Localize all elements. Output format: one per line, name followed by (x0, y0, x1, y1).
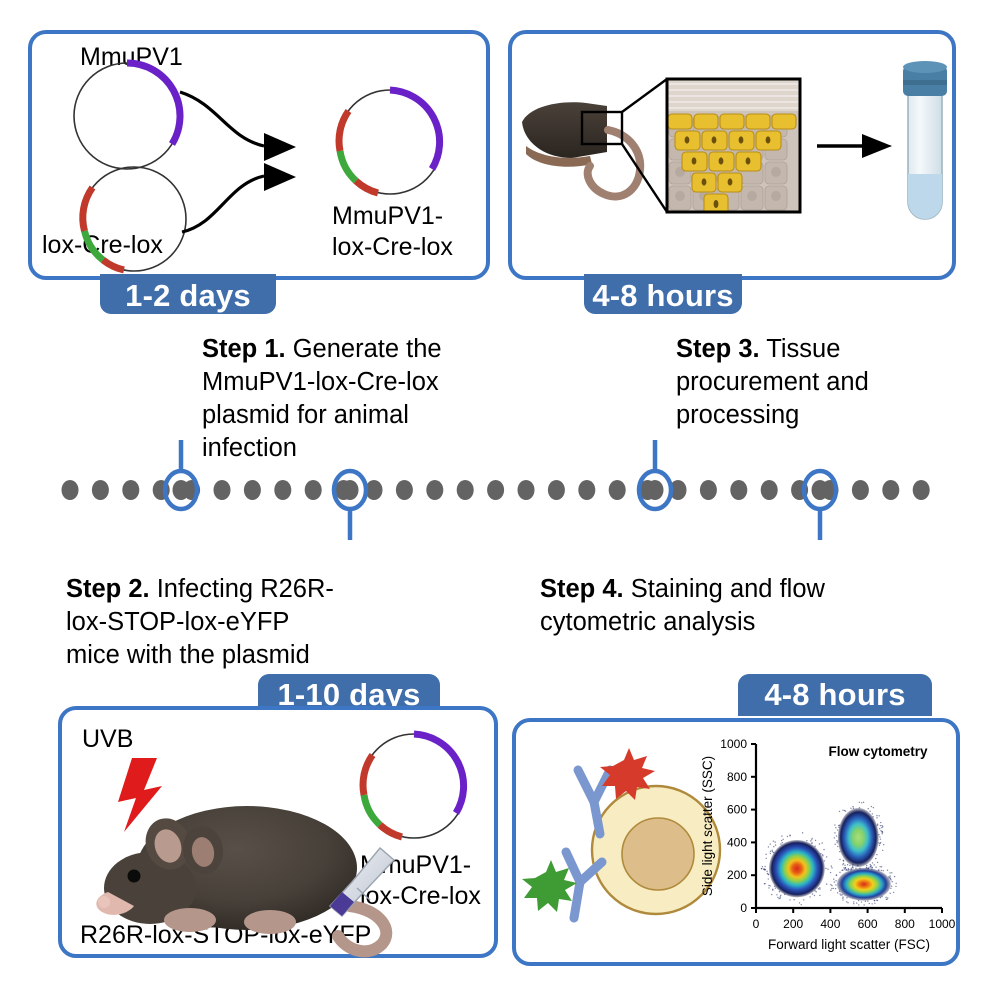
y-tick-label: 600 (727, 803, 747, 817)
x-tick-label: 1000 (929, 917, 956, 931)
tissue-inset (667, 79, 800, 214)
plasmid-mmupv1 (74, 63, 180, 169)
badge-duration-step1: 1-2 days (100, 274, 276, 314)
flow-cytometry-plot: Flow cytometry 0200400600800100002004006… (698, 726, 950, 958)
chart-title: Flow cytometry (828, 744, 928, 759)
step-3-label: Step 3. (676, 335, 760, 363)
population-1 (769, 840, 825, 897)
timeline-dot (730, 480, 747, 500)
combination-arrows (180, 92, 296, 232)
timeline-dot (487, 480, 504, 500)
timeline-dots (62, 480, 930, 500)
plasmid-combined (338, 90, 442, 194)
mouse-illustration (96, 806, 386, 951)
plasmid-lox-cre-lox (82, 167, 186, 271)
density-clusters (761, 802, 897, 906)
x-tick-label: 400 (820, 917, 840, 931)
y-tick-label: 1000 (720, 737, 747, 751)
y-tick-label: 0 (740, 901, 747, 915)
plasmid-mmupv1-lox-cre-lox (362, 734, 466, 838)
timeline-dot (852, 480, 869, 500)
y-tick-label: 800 (727, 770, 747, 784)
timeline-dot (700, 480, 717, 500)
timeline-dot (609, 480, 626, 500)
timeline-dot (518, 480, 535, 500)
timeline-dot (396, 480, 413, 500)
timeline-dot (457, 480, 474, 500)
x-tick-label: 0 (753, 917, 760, 931)
y-tick-label: 200 (727, 868, 747, 882)
y-tick-label: 400 (727, 835, 747, 849)
badge-duration-step4: 4-8 hours (738, 674, 932, 716)
timeline-dot (214, 480, 231, 500)
timeline-dot (578, 480, 595, 500)
population-3 (837, 868, 891, 901)
timeline-dot (426, 480, 443, 500)
timeline-dot (244, 480, 261, 500)
collection-tube (903, 61, 947, 219)
step-4-label: Step 4. (540, 575, 624, 603)
timeline-dot (548, 480, 565, 500)
timeline-dot (62, 480, 79, 500)
step-1-description: Step 1. Generate the MmuPV1-lox-Cre-lox … (202, 333, 462, 465)
step-1-label: Step 1. (202, 335, 286, 363)
timeline-dot (913, 480, 930, 500)
process-arrow (817, 134, 892, 158)
x-axis-label: Forward light scatter (FSC) (768, 937, 930, 952)
panel-step2-mouse-infection: UVB R26R-lox-STOP-lox-eYFP MmuPV1- lox-C… (58, 706, 498, 958)
step-4-description: Step 4. Staining and flow cytometric ana… (540, 573, 830, 639)
timeline-dot (274, 480, 291, 500)
timeline-dot (122, 480, 139, 500)
x-tick-label: 800 (895, 917, 915, 931)
step-3-description: Step 3. Tissue procurement and processin… (676, 333, 926, 432)
panel-step3-tissue-procurement (508, 30, 956, 280)
uvb-lightning-icon (118, 758, 162, 832)
step-2-label: Step 2. (66, 575, 150, 603)
timeline-dot (882, 480, 899, 500)
timeline-node-step2[interactable] (334, 471, 366, 540)
panel-step4-flow-cytometry: Flow cytometry 0200400600800100002004006… (512, 718, 960, 966)
timeline-dot (305, 480, 322, 500)
timeline (0, 462, 996, 530)
x-tick-label: 600 (858, 917, 878, 931)
y-axis-label: Side light scatter (SSC) (700, 756, 715, 896)
mouse-illustration (522, 102, 640, 196)
timeline-dot (761, 480, 778, 500)
mouse-infection-diagram (62, 710, 494, 954)
badge-duration-step3: 4-8 hours (584, 274, 742, 314)
panel-step1-plasmid-construction: MmuPV1 lox-Cre-lox MmuPV1- lox-Cre-lox (28, 30, 490, 280)
timeline-dot (92, 480, 109, 500)
plasmid-diagram (32, 34, 486, 276)
tissue-procurement-diagram (512, 34, 952, 276)
step-2-description: Step 2. Infecting R26R-lox-STOP-lox-eYFP… (66, 573, 346, 672)
x-tick-label: 200 (783, 917, 803, 931)
